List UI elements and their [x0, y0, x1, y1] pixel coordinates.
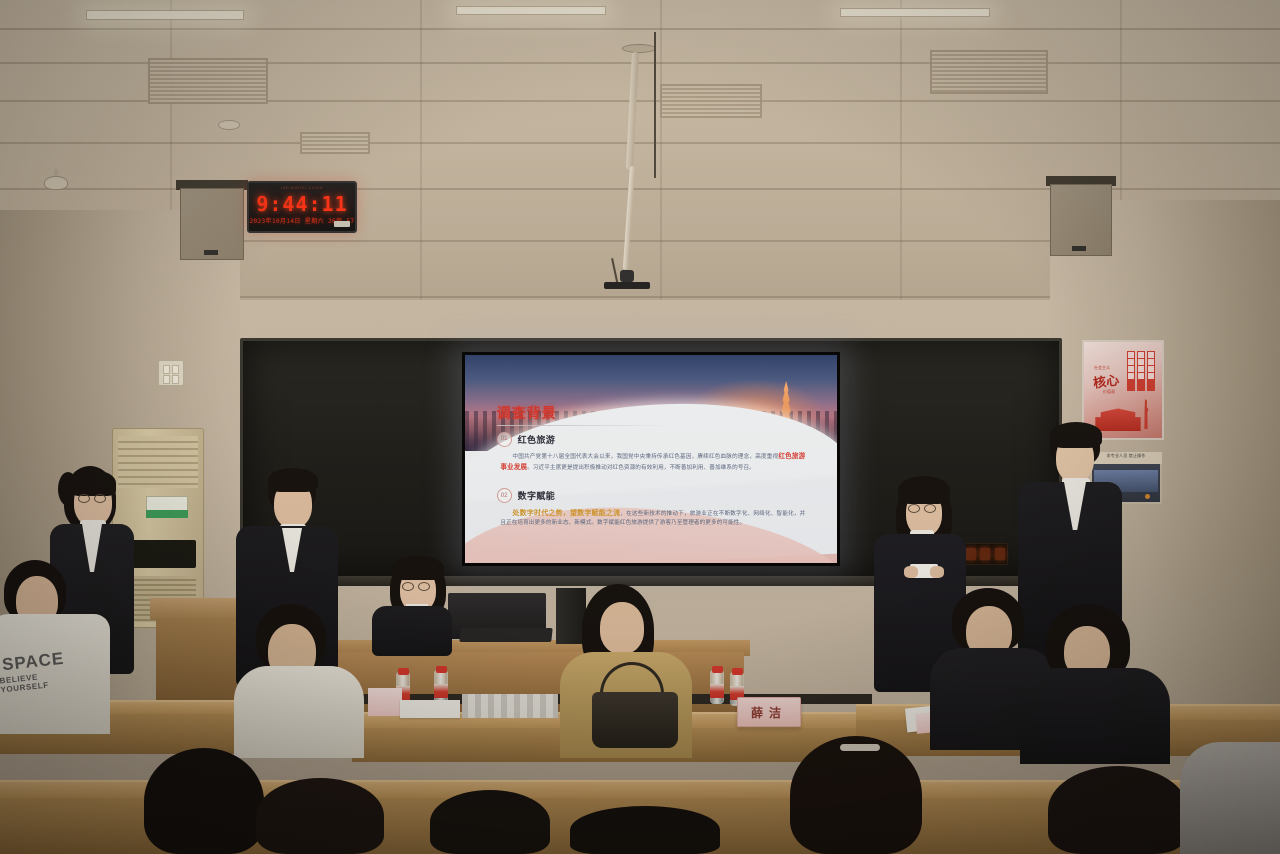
ceiling-light — [86, 10, 244, 20]
bottle-label — [434, 684, 448, 698]
speaker-badge — [1072, 246, 1086, 251]
poster-sub-text: 价值观 — [1103, 389, 1115, 395]
led-wall-clock: LED-DIGITAL-CLOCK 9:44:11 2023年10月14日 星期… — [247, 181, 357, 233]
light-switch-panel[interactable] — [158, 360, 184, 386]
ceiling-light — [456, 6, 606, 15]
projector-cable — [654, 32, 656, 178]
ceiling-light — [840, 8, 990, 17]
speaker-badge — [204, 250, 218, 255]
projector-body — [604, 282, 650, 289]
para2-highlight: 处数字时代之势，望数字赋能之流 — [512, 510, 620, 517]
bottle-cap — [436, 666, 447, 673]
section-paragraph-01: 中国共产党第十八届全国代表大会以来，我国党中央秉持传承红色基因，赓续红色血脉的理… — [500, 452, 805, 474]
projector-head — [620, 270, 634, 282]
control-panel-warning-label: 非专业人员 禁止操作 — [1092, 453, 1160, 459]
blackboard-led-indicator — [963, 543, 1008, 565]
para1-post: 。习近平主席更是提出积极推动对红色资源的有效利用，不断善加利用、善加维系的号召。 — [527, 465, 755, 471]
classroom-scene: LED-DIGITAL-CLOCK 9:44:11 2023年10月14日 星期… — [0, 0, 1280, 854]
bottle-cap — [398, 668, 409, 675]
ceiling-vent — [148, 58, 268, 104]
ceiling-vent — [660, 84, 762, 118]
magazine-spread — [462, 694, 558, 718]
slide-title: 调查背景 — [497, 403, 557, 423]
bottle-label — [710, 684, 724, 698]
white-paper — [400, 700, 460, 718]
poster-slogan-columns — [1127, 351, 1155, 391]
handbag — [592, 692, 678, 748]
control-panel-led-icon — [1145, 494, 1150, 499]
slide-section-01: 01 红色旅游 — [497, 432, 556, 447]
clock-sensor-chip — [334, 221, 350, 227]
smoke-detector-icon — [218, 120, 240, 130]
ac-louvers — [118, 436, 198, 488]
ceiling-vent — [930, 50, 1048, 94]
bottle-cap — [712, 666, 723, 673]
hair-clip-icon — [840, 744, 880, 751]
name-plate-text: 薛洁 — [751, 704, 787, 721]
name-plate: 薛洁 — [737, 697, 801, 727]
tiananmen-gate-icon — [1091, 407, 1145, 431]
ceiling-vent — [300, 132, 370, 154]
clock-brand-label: LED-DIGITAL-CLOCK — [249, 186, 355, 190]
security-camera-icon — [44, 176, 68, 190]
section-paragraph-02: 处数字时代之势，望数字赋能之流，在这些新技术的推动下，旅游业正在不断数字化、网络… — [500, 508, 805, 529]
ac-energy-label-green-band — [146, 510, 188, 518]
section-number-01: 01 — [497, 432, 512, 447]
presentation-slide: 调查背景 01 红色旅游 中国共产党第十八届全国代表大会以来，我国党中央秉持传承… — [465, 355, 837, 563]
projection-screen: 调查背景 01 红色旅游 中国共产党第十八届全国代表大会以来，我国党中央秉持传承… — [462, 352, 840, 566]
clock-time-display: 9:44:11 — [249, 192, 355, 216]
bottle-cap — [732, 668, 743, 675]
section-heading-01: 红色旅游 — [518, 433, 556, 446]
keyboard[interactable] — [459, 628, 552, 642]
para1-pre: 中国共产党第十八届全国代表大会以来，我国党中央秉持传承红色基因，赓续红色血脉的理… — [512, 454, 778, 460]
projector-ceiling-plate — [622, 44, 656, 53]
slide-section-02: 02 数字赋能 — [497, 488, 556, 503]
statue-icon — [1141, 399, 1151, 429]
section-heading-02: 数字赋能 — [518, 489, 556, 502]
section-number-02: 02 — [497, 488, 512, 503]
red-document — [368, 688, 402, 716]
slide-title-rule — [497, 425, 676, 426]
